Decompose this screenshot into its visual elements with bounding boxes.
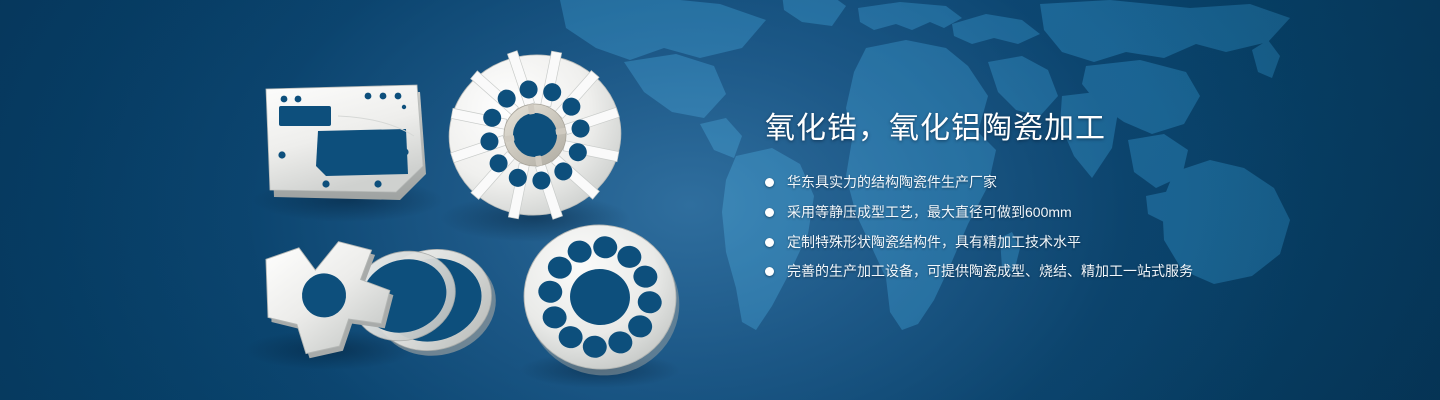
list-item: 定制特殊形状陶瓷结构件，具有精加工技术水平	[765, 232, 1385, 254]
page-title: 氧化锆，氧化铝陶瓷加工	[765, 112, 1385, 146]
bullet-dot-icon	[765, 208, 774, 217]
ceramic-products-group	[0, 0, 720, 400]
bullet-dot-icon	[765, 267, 774, 276]
ceramic-product-banner: 氧化锆，氧化铝陶瓷加工 华东具实力的结构陶瓷件生产厂家 采用等静压成型工艺，最大…	[0, 0, 1440, 400]
list-item: 完善的生产加工设备，可提供陶瓷成型、烧结、精加工一站式服务	[765, 261, 1385, 283]
list-item: 采用等静压成型工艺，最大直径可做到600mm	[765, 202, 1385, 224]
list-item: 华东具实力的结构陶瓷件生产厂家	[765, 172, 1385, 194]
bullet-dot-icon	[765, 238, 774, 247]
feature-text: 完善的生产加工设备，可提供陶瓷成型、烧结、精加工一站式服务	[787, 263, 1193, 279]
feature-text: 定制特殊形状陶瓷结构件，具有精加工技术水平	[787, 234, 1081, 250]
bullet-dot-icon	[765, 178, 774, 187]
feature-list: 华东具实力的结构陶瓷件生产厂家 采用等静压成型工艺，最大直径可做到600mm 定…	[765, 172, 1385, 283]
product-flat-plate	[266, 85, 426, 200]
banner-copy: 氧化锆，氧化铝陶瓷加工 华东具实力的结构陶瓷件生产厂家 采用等静压成型工艺，最大…	[765, 112, 1385, 283]
feature-text: 华东具实力的结构陶瓷件生产厂家	[787, 174, 997, 190]
feature-text: 采用等静压成型工艺，最大直径可做到600mm	[787, 204, 1072, 220]
